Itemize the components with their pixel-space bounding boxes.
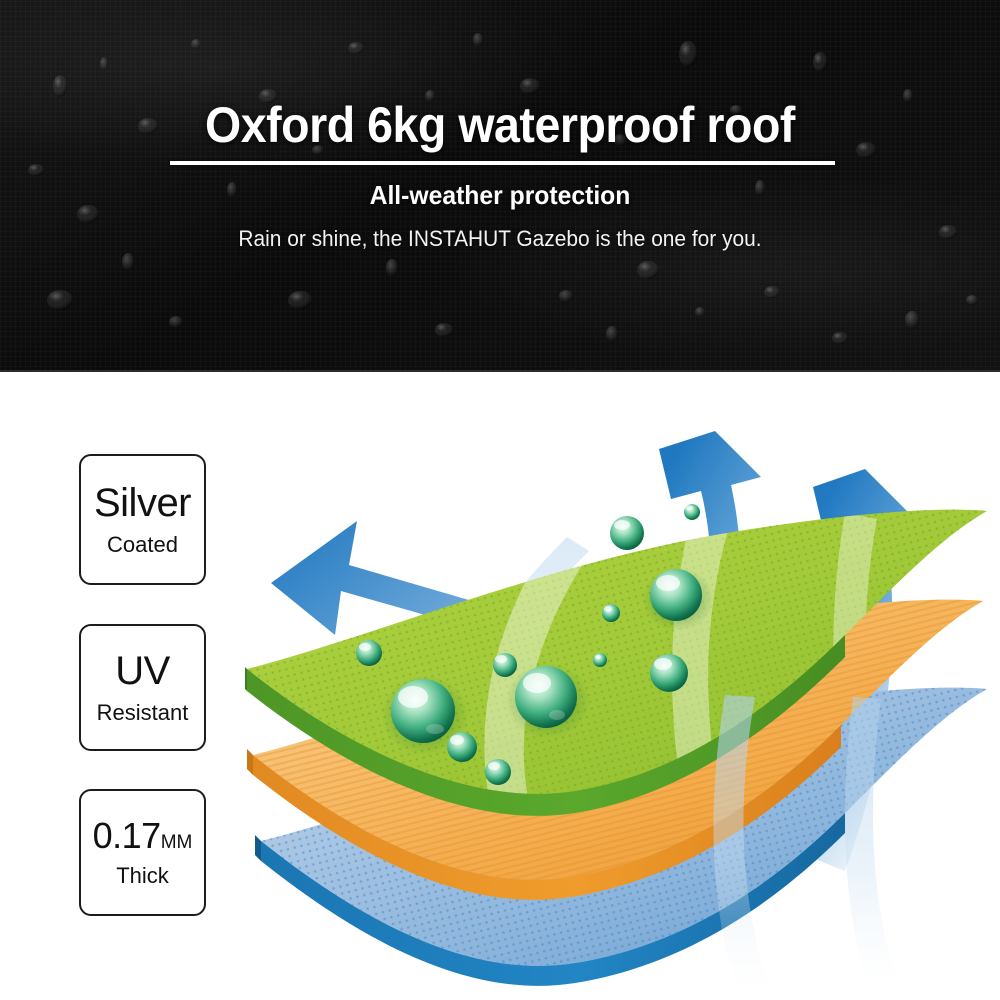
- badge-thickness-unit: MM: [161, 832, 193, 853]
- badge-secondary-label: Thick: [116, 865, 169, 887]
- hero-banner: Oxford 6kg waterproof roof All-weather p…: [0, 0, 1000, 372]
- title-divider: [170, 161, 835, 165]
- badge-primary-label: Silver: [94, 483, 191, 523]
- page-title: Oxford 6kg waterproof roof: [35, 96, 965, 154]
- badge-primary-label: UV: [115, 651, 170, 691]
- three-layer-fabric-illustration: [245, 425, 990, 990]
- badge-primary-label: 0.17MM: [93, 818, 193, 854]
- badge-secondary-label: Coated: [107, 534, 178, 556]
- hero-content: Oxford 6kg waterproof roof All-weather p…: [0, 0, 1000, 372]
- feature-badge-thickness: 0.17MM Thick: [79, 789, 206, 916]
- hero-subtitle: All-weather protection: [25, 180, 975, 211]
- hero-tagline: Rain or shine, the INSTAHUT Gazebo is th…: [25, 226, 975, 252]
- badge-secondary-label: Resistant: [97, 702, 189, 724]
- badge-thickness-value: 0.17: [93, 815, 161, 856]
- feature-badge-silver-coated: Silver Coated: [79, 454, 206, 585]
- feature-badge-uv-resistant: UV Resistant: [79, 624, 206, 751]
